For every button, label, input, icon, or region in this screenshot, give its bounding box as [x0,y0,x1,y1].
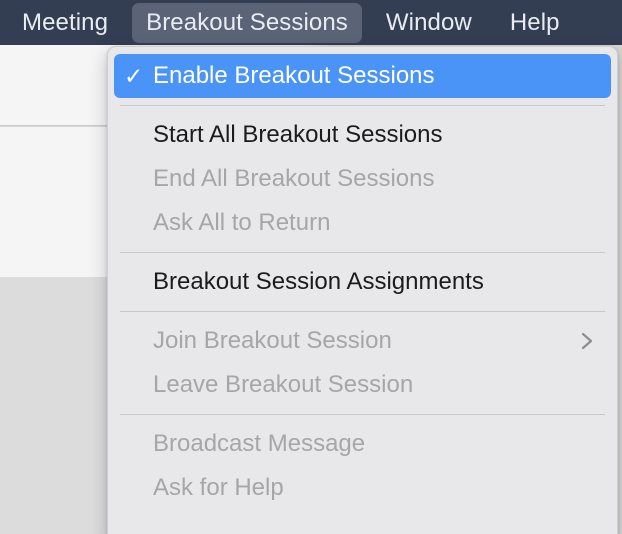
menu-item-label: Breakout Session Assignments [153,268,601,296]
menu-item-label: Join Breakout Session [153,327,601,355]
menu-item: Broadcast Message [114,422,611,466]
menu-item[interactable]: ✓Enable Breakout Sessions [114,54,611,98]
menu-item-label: End All Breakout Sessions [153,165,601,193]
menu-separator [120,311,605,312]
menu-separator [120,105,605,106]
checkmark-icon: ✓ [124,65,153,88]
menu-item[interactable]: Start All Breakout Sessions [114,113,611,157]
menu-item: Ask for Help [114,466,611,510]
menubar-item-breakout-sessions[interactable]: Breakout Sessions [132,3,362,43]
menu-item-label: Broadcast Message [153,430,601,458]
menu-separator [120,414,605,415]
menu-item[interactable]: Breakout Session Assignments [114,260,611,304]
menubar-item-meeting[interactable]: Meeting [8,3,122,43]
menu-item-label: Ask for Help [153,474,601,502]
menu-item: Ask All to Return [114,201,611,245]
menubar-item-help[interactable]: Help [496,3,574,43]
screen: Meeting Breakout Sessions Window Help ✓E… [0,0,622,534]
menu-item: Join Breakout Session [114,319,611,363]
menubar-item-window[interactable]: Window [372,3,486,43]
menu-separator [120,252,605,253]
menu-item: Leave Breakout Session [114,363,611,407]
menu-bar: Meeting Breakout Sessions Window Help [0,0,622,45]
menu-item-label: Start All Breakout Sessions [153,121,601,149]
chevron-right-icon [581,331,593,351]
menu-item: End All Breakout Sessions [114,157,611,201]
menu-item-label: Ask All to Return [153,209,601,237]
breakout-sessions-dropdown-menu: ✓Enable Breakout SessionsStart All Break… [107,46,618,534]
menu-item-label: Enable Breakout Sessions [153,62,601,90]
menu-item-label: Leave Breakout Session [153,371,601,399]
